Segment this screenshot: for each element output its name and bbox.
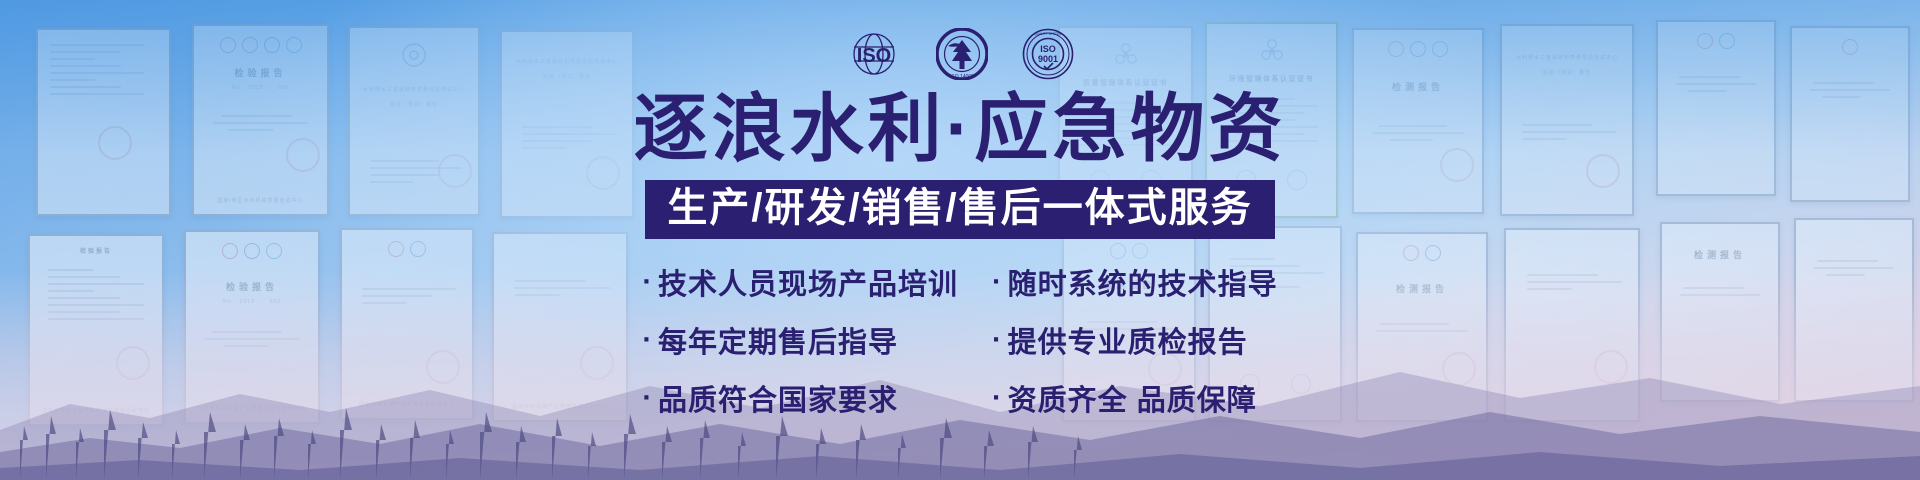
iso-logo-row: ISO ISO 14000 ISO 9001 QUALITY SYSTEM — [846, 28, 1074, 80]
banner-headline: 逐浪水利·应急物资 — [634, 92, 1287, 166]
feature-label: 随时系统的技术指导 — [1008, 261, 1278, 303]
feature-label: 提供专业质检报告 — [1008, 319, 1248, 361]
feature-item: · 技术人员现场产品培训 — [642, 261, 958, 303]
bullet-dot-icon: · — [992, 384, 1003, 413]
feature-label: 每年定期售后指导 — [658, 319, 898, 361]
banner-subtitle-bar: 生产/研发/销售/售后一体式服务 — [645, 180, 1274, 239]
svg-text:QUALITY SYSTEM: QUALITY SYSTEM — [1034, 32, 1062, 36]
feature-item: · 每年定期售后指导 — [642, 319, 958, 361]
iso-9001-seal-logo-icon: ISO 9001 QUALITY SYSTEM — [1022, 28, 1074, 80]
svg-text:ISO 14000: ISO 14000 — [950, 74, 974, 80]
iso-globe-logo-icon: ISO — [846, 29, 902, 79]
feature-item: · 品质符合国家要求 — [642, 377, 958, 419]
feature-item: · 提供专业质检报告 — [992, 319, 1278, 361]
bullet-dot-icon: · — [642, 384, 653, 413]
banner-content: ISO ISO 14000 ISO 9001 QUALITY SYSTEM — [0, 0, 1920, 480]
bullet-dot-icon: · — [992, 326, 1003, 355]
promotional-banner: 检验报告 No. 2019 - 001 国家/地区水利机械质量检验中心 水利部水… — [0, 0, 1920, 480]
svg-text:ISO: ISO — [1040, 44, 1056, 54]
bullet-dot-icon: · — [642, 326, 653, 355]
feature-label: 技术人员现场产品培训 — [658, 261, 958, 303]
feature-item: · 资质齐全 品质保障 — [992, 377, 1278, 419]
svg-text:ISO: ISO — [857, 45, 891, 67]
iso-14000-environment-logo-icon: ISO 14000 — [936, 28, 988, 80]
svg-text:9001: 9001 — [1038, 54, 1058, 64]
feature-item: · 随时系统的技术指导 — [992, 261, 1278, 303]
feature-list: · 技术人员现场产品培训 · 随时系统的技术指导 · 每年定期售后指导 · 提供… — [642, 261, 1277, 419]
feature-label: 品质符合国家要求 — [658, 377, 898, 419]
feature-label: 资质齐全 品质保障 — [1008, 377, 1257, 419]
bullet-dot-icon: · — [642, 268, 653, 297]
bullet-dot-icon: · — [992, 268, 1003, 297]
